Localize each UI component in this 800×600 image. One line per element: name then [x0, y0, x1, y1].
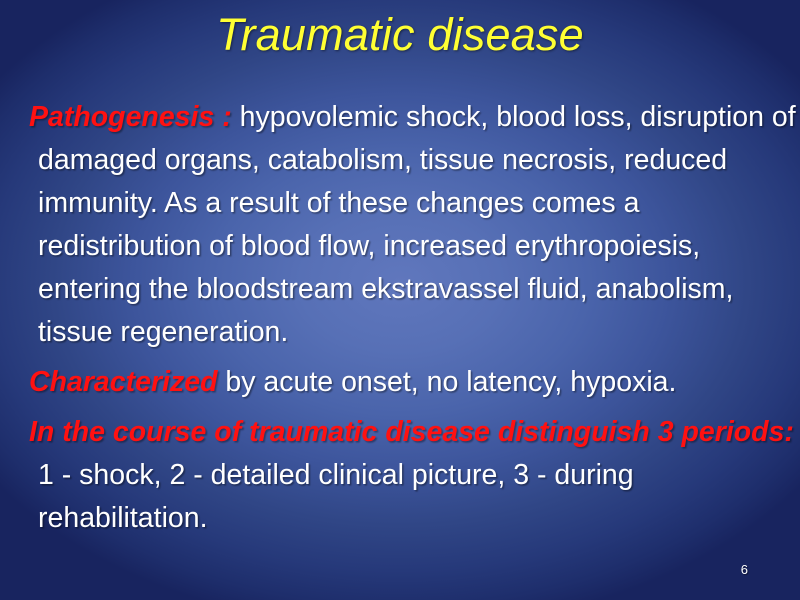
bullet-item: ✔In the course of traumatic disease dist… [0, 411, 800, 540]
checkmark-icon: ✔ [5, 93, 37, 142]
checkmark-icon: ✔ [5, 358, 37, 407]
bullet-body-text: by acute onset, no latency, hypoxia. [218, 366, 677, 398]
slide-canvas: Traumatic disease ✔Pathogenesis : hypovo… [0, 0, 800, 600]
checkmark-icon: ✔ [5, 408, 37, 457]
slide-title: Traumatic disease [0, 8, 800, 61]
bullet-lead-text: Characterized [29, 366, 218, 398]
page-number: 6 [741, 562, 748, 577]
bullet-body-text: 1 - shock, 2 - detailed clinical picture… [38, 459, 634, 534]
bullet-item: ✔Characterized by acute onset, no latenc… [0, 361, 800, 404]
slide-body: ✔Pathogenesis : hypovolemic shock, blood… [0, 96, 800, 540]
bullet-lead-text: Pathogenesis : [29, 101, 232, 133]
bullet-item: ✔Pathogenesis : hypovolemic shock, blood… [0, 96, 800, 354]
bullet-body-text: hypovolemic shock, blood loss, disruptio… [38, 101, 796, 348]
bullet-lead-text: In the course of traumatic disease disti… [29, 416, 794, 448]
